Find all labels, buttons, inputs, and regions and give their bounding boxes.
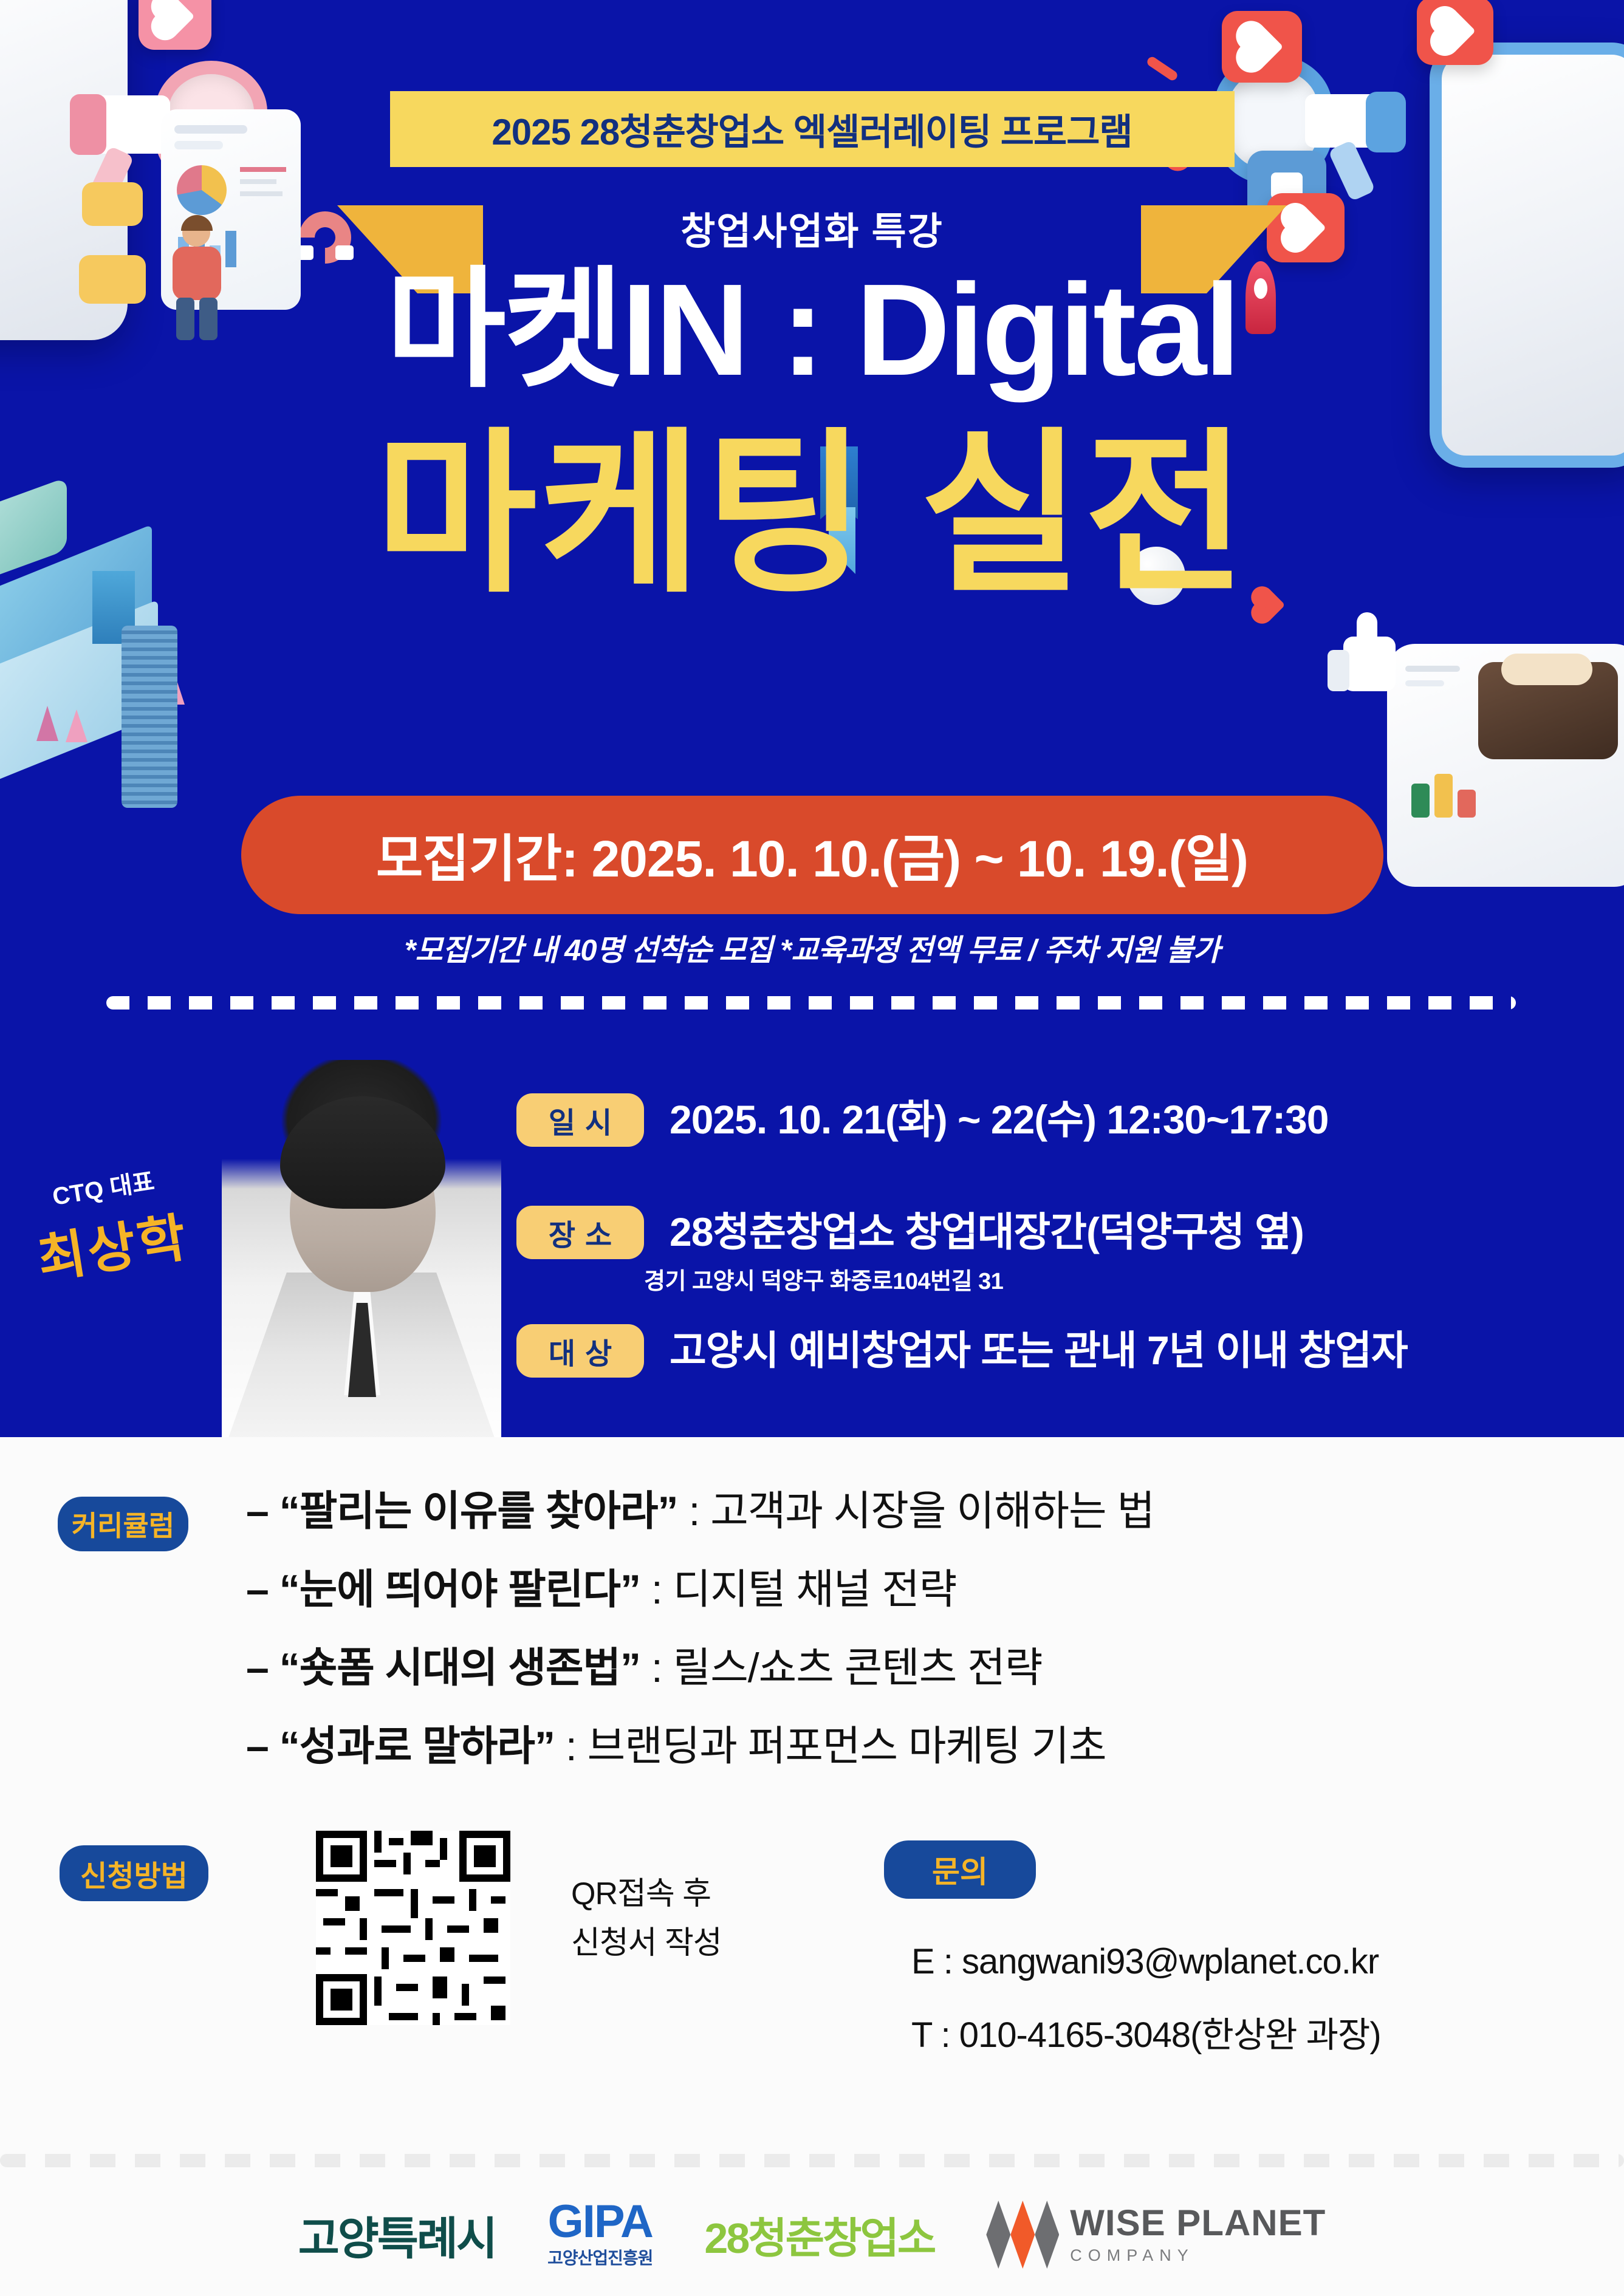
dashed-divider-blue	[106, 996, 1516, 1010]
recruitment-period-text: 모집기간: 2025. 10. 10.(금) ~ 10. 19.(일)	[376, 818, 1248, 892]
logo-gipa-subtext: 고양산업진흥원	[547, 2245, 653, 2269]
qr-instruction: QR접속 후 신청서 작성	[571, 1870, 722, 1967]
curriculum-item: – “성과로 말하라” : 브랜딩과 퍼포먼스 마케팅 기초	[246, 1721, 1154, 1772]
recruitment-note: *모집기간 내 40명 선착순 모집 *교육과정 전액 무료 / 주차 지원 불…	[0, 926, 1624, 969]
contact-phone[interactable]: T : 010-4165-3048(한상완 과장)	[911, 2006, 1381, 2057]
curriculum-item: – “눈에 띄어야 팔린다” : 디지털 채널 전략	[246, 1564, 1154, 1616]
info-badge-target: 대상	[516, 1324, 644, 1378]
heart-bubble-icon-tr2	[1417, 0, 1493, 65]
heart-bubble-icon-tr1	[1222, 11, 1302, 83]
logo-wise-planet-text: WISE PLANET	[1070, 2205, 1326, 2241]
poster-bottom-white-section: 커리큘럼 – “팔리는 이유를 찾아라” : 고객과 시장을 이해하는 법 – …	[0, 1437, 1624, 2296]
qr-instruction-line2: 신청서 작성	[571, 1919, 722, 1968]
curriculum-item-quote: – “성과로 말하라”	[246, 1723, 555, 1769]
logo-28-youth-startup: 28청춘창업소	[704, 2204, 934, 2266]
speaker-portrait	[222, 1060, 501, 1437]
logo-wise-planet: WISE PLANET COMPANY	[986, 2201, 1326, 2269]
contact-email[interactable]: E : sangwani93@wplanet.co.kr	[911, 1941, 1381, 1982]
curriculum-item-rest: : 릴스/쇼츠 콘텐츠 전략	[640, 1645, 1042, 1691]
contact-tag: 문의	[884, 1840, 1036, 1899]
heart-bubble-icon	[139, 0, 211, 50]
recruitment-period-badge: 모집기간: 2025. 10. 10.(금) ~ 10. 19.(일)	[241, 796, 1383, 914]
info-badge-date: 일시	[516, 1093, 644, 1147]
wise-planet-mark-icon	[986, 2201, 1059, 2269]
curriculum-item: – “숏폼 시대의 생존법” : 릴스/쇼츠 콘텐츠 전략	[246, 1642, 1154, 1694]
dashed-divider-gray	[0, 2154, 1624, 2167]
curriculum-tag: 커리큘럼	[58, 1497, 188, 1551]
info-value-place: 28청춘창업소 창업대장간(덕양구청 옆)	[670, 1206, 1304, 1259]
logo-28-youth-startup-text: 28청춘창업소	[704, 2204, 934, 2266]
ribbon-main-band: 2025 28청춘창업소 엑셀러레이팅 프로그램	[390, 91, 1235, 167]
logo-goyang-city: 고양특례시	[298, 2202, 496, 2267]
qr-instruction-line1: QR접속 후	[571, 1870, 722, 1919]
info-row-target: 대상 고양시 예비창업자 또는 관내 7년 이내 창업자	[516, 1324, 1408, 1378]
phone-food-illustration	[1387, 644, 1624, 887]
curriculum-item-rest: : 고객과 시장을 이해하는 법	[678, 1488, 1155, 1534]
poster-top-blue-section: 2025 28청춘창업소 엑셀러레이팅 프로그램 창업사업화 특강 마켓IN :…	[0, 0, 1624, 1437]
logo-gipa: GIPA 고양산업진흥원	[547, 2200, 653, 2269]
footer-logos: 고양특례시 GIPA 고양산업진흥원 28청춘창업소 WISE PLANET C…	[0, 2189, 1624, 2280]
poster-title-line1: 마켓IN : Digital	[0, 261, 1624, 398]
apply-method-tag: 신청방법	[60, 1845, 208, 1901]
curriculum-item-quote: – “눈에 띄어야 팔린다”	[246, 1567, 640, 1613]
curriculum-item-quote: – “숏폼 시대의 생존법”	[246, 1645, 640, 1691]
curriculum-item-rest: : 브랜딩과 퍼포먼스 마케팅 기초	[555, 1723, 1106, 1769]
info-subvalue-address: 경기 고양시 덕양구 화중로104번길 31	[644, 1262, 1304, 1296]
info-value-date: 2025. 10. 21(화) ~ 22(수) 12:30~17:30	[670, 1093, 1328, 1146]
thumbs-up-3d-icon	[1328, 612, 1406, 697]
contact-block: E : sangwani93@wplanet.co.kr T : 010-416…	[911, 1941, 1381, 2082]
poster-title-line2: 마케팅 실전	[0, 425, 1624, 605]
info-value-target: 고양시 예비창업자 또는 관내 7년 이내 창업자	[670, 1324, 1408, 1377]
curriculum-list: – “팔리는 이유를 찾아라” : 고객과 시장을 이해하는 법 – “눈에 띄…	[246, 1486, 1154, 1799]
info-row-place: 장소 28청춘창업소 창업대장간(덕양구청 옆) 경기 고양시 덕양구 화중로1…	[516, 1206, 1304, 1296]
info-badge-place: 장소	[516, 1206, 644, 1259]
qr-code[interactable]	[316, 1831, 510, 2025]
tower-illustration	[122, 626, 177, 808]
logo-goyang-city-text: 고양특례시	[298, 2202, 496, 2267]
curriculum-item-quote: – “팔리는 이유를 찾아라”	[246, 1488, 678, 1534]
ribbon-title-text: 2025 28청춘창업소 엑셀러레이팅 프로그램	[492, 103, 1132, 155]
event-poster: 2025 28청춘창업소 엑셀러레이팅 프로그램 창업사업화 특강 마켓IN :…	[0, 0, 1624, 2296]
curriculum-item: – “팔리는 이유를 찾아라” : 고객과 시장을 이해하는 법	[246, 1486, 1154, 1537]
logo-wise-planet-subtext: COMPANY	[1070, 2246, 1326, 2265]
curriculum-item-rest: : 디지털 채널 전략	[640, 1567, 956, 1613]
poster-subtitle: 창업사업화 특강	[0, 200, 1624, 255]
logo-gipa-text: GIPA	[548, 2200, 653, 2244]
info-row-date: 일시 2025. 10. 21(화) ~ 22(수) 12:30~17:30	[516, 1093, 1328, 1147]
